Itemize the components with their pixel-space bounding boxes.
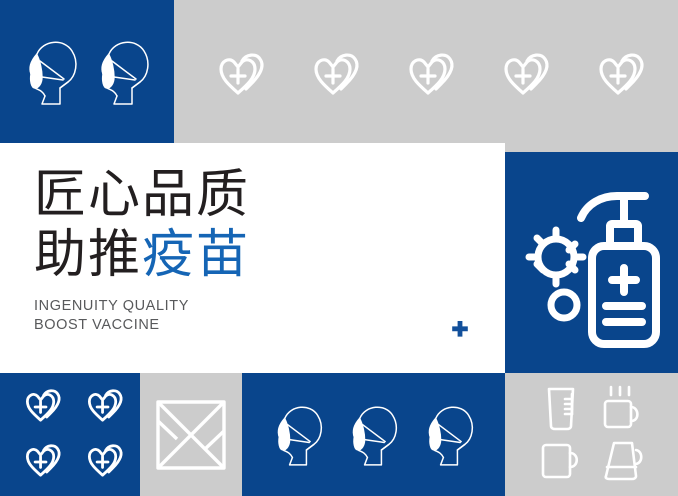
heart-icon-grid: [0, 373, 140, 496]
double-heart-plus-icon: [8, 440, 70, 484]
headline-line-1: 匠心品质: [34, 165, 495, 225]
image-placeholder-panel: [140, 373, 242, 496]
steaming-mug-icon: [599, 384, 645, 432]
double-heart-plus-icon: [291, 48, 371, 104]
double-heart-plus-icon: [70, 385, 132, 429]
masked-head-icon: [92, 34, 154, 110]
bottom-mask-panel: [242, 373, 505, 496]
headline-line-2-accent: 疫苗: [142, 225, 250, 285]
plus-cross-icon: [450, 319, 470, 339]
double-heart-plus-icon: [386, 48, 466, 104]
top-left-mask-panel: [0, 0, 174, 143]
ring-icon: [551, 292, 577, 318]
poster-canvas: 匠心品质 助推疫苗 INGENUITY QUALITY BOOST VACCIN…: [0, 0, 678, 496]
double-heart-plus-icon: [196, 48, 276, 104]
english-subtitle-block: INGENUITY QUALITY BOOST VACCINE: [34, 297, 495, 335]
english-subtitle-line-1: INGENUITY QUALITY: [34, 297, 495, 316]
sanitizer-pump-bottle-icon: [581, 196, 656, 344]
kitchenware-icon-grid: [505, 373, 678, 496]
measuring-beaker-icon: [541, 384, 581, 432]
double-heart-plus-icon: [576, 48, 656, 104]
double-heart-plus-icon: [481, 48, 561, 104]
kitchenware-panel: [505, 373, 678, 496]
mask-icon-row: [242, 373, 505, 496]
masked-head-icon: [269, 399, 327, 471]
masked-head-icon: [420, 399, 478, 471]
headline-line-2: 助推疫苗: [34, 225, 495, 285]
double-heart-plus-icon: [70, 440, 132, 484]
headline-block: 匠心品质 助推疫苗 INGENUITY QUALITY BOOST VACCIN…: [34, 165, 495, 335]
headline-line-2-prefix: 助推: [34, 225, 142, 285]
masked-head-icon: [20, 34, 82, 110]
masked-head-icon: [344, 399, 402, 471]
bottom-left-heart-panel: [0, 373, 140, 496]
kettle-icon: [598, 438, 646, 484]
sanitizer-panel: [505, 152, 678, 373]
crossed-square-placeholder-icon: [155, 399, 227, 471]
germ-icon: [529, 230, 583, 284]
english-subtitle-line-2: BOOST VACCINE: [34, 316, 495, 335]
double-heart-plus-icon: [8, 385, 70, 429]
mask-icon-row: [0, 0, 174, 143]
headline-panel: 匠心品质 助推疫苗 INGENUITY QUALITY BOOST VACCIN…: [0, 143, 505, 373]
top-heart-band: [174, 0, 678, 152]
mug-icon: [538, 439, 584, 483]
heart-icon-row: [174, 0, 678, 152]
